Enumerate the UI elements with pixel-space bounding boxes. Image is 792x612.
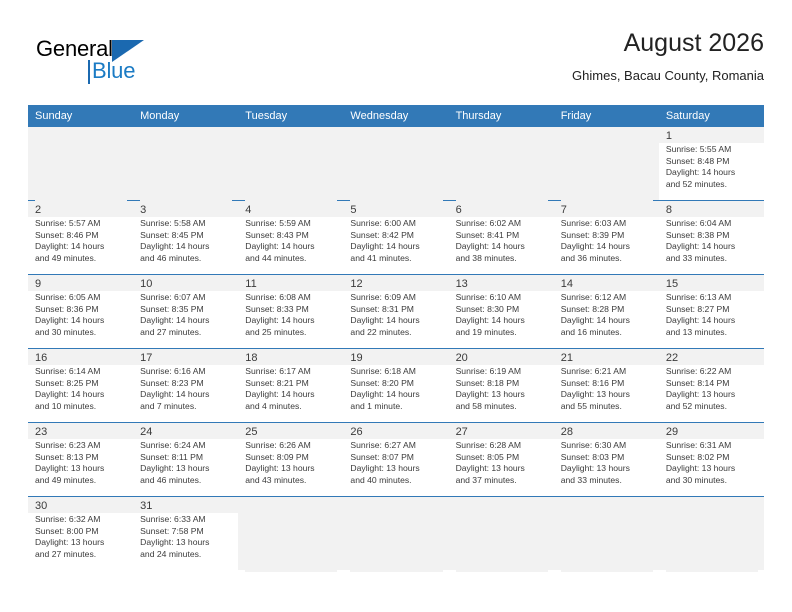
empty-cell-fill [561, 129, 653, 202]
day-number [666, 572, 758, 586]
empty-cell-fill [666, 499, 758, 572]
day-details: Sunrise: 6:10 AMSunset: 8:30 PMDaylight:… [456, 292, 548, 338]
calendar-day-cell[interactable]: 10Sunrise: 6:07 AMSunset: 8:35 PMDayligh… [133, 275, 238, 349]
day-cell-inner [554, 127, 659, 200]
day-cell-inner: 18Sunrise: 6:17 AMSunset: 8:21 PMDayligh… [238, 349, 343, 422]
sunrise-text: Sunrise: 6:30 AM [561, 440, 653, 452]
daylight-text-cont: and 52 minutes. [666, 401, 758, 413]
sunset-text: Sunset: 8:18 PM [456, 378, 548, 390]
day-details: Sunrise: 6:13 AMSunset: 8:27 PMDaylight:… [666, 292, 758, 338]
empty-cell-fill [561, 499, 653, 572]
daylight-text-cont: and 33 minutes. [666, 253, 758, 265]
daylight-text-cont: and 55 minutes. [561, 401, 653, 413]
calendar-day-cell[interactable]: 18Sunrise: 6:17 AMSunset: 8:21 PMDayligh… [238, 349, 343, 423]
daylight-text-cont: and 1 minute. [350, 401, 442, 413]
empty-cell-fill [350, 129, 442, 202]
page-header: General Blue August 2026 Ghimes, Bacau C… [28, 26, 764, 98]
daylight-text-cont: and 25 minutes. [245, 327, 337, 339]
day-cell-inner [343, 127, 448, 200]
calendar-day-cell[interactable]: 25Sunrise: 6:26 AMSunset: 8:09 PMDayligh… [238, 423, 343, 497]
sunset-text: Sunset: 8:48 PM [666, 156, 758, 168]
weekday-header-friday: Friday [554, 105, 659, 127]
day-details: Sunrise: 6:03 AMSunset: 8:39 PMDaylight:… [561, 218, 653, 264]
daylight-text: Daylight: 13 hours [456, 389, 548, 401]
day-number: 29 [666, 425, 758, 439]
sunset-text: Sunset: 7:58 PM [140, 526, 232, 538]
calendar-day-cell[interactable]: 21Sunrise: 6:21 AMSunset: 8:16 PMDayligh… [554, 349, 659, 423]
daylight-text: Daylight: 14 hours [35, 389, 127, 401]
calendar-week-row: 9Sunrise: 6:05 AMSunset: 8:36 PMDaylight… [28, 275, 764, 349]
calendar-week-row: 2Sunrise: 5:57 AMSunset: 8:46 PMDaylight… [28, 201, 764, 275]
day-details: Sunrise: 6:23 AMSunset: 8:13 PMDaylight:… [35, 440, 127, 486]
daylight-text: Daylight: 14 hours [35, 315, 127, 327]
calendar-week-row: 23Sunrise: 6:23 AMSunset: 8:13 PMDayligh… [28, 423, 764, 497]
sunset-text: Sunset: 8:27 PM [666, 304, 758, 316]
sunset-text: Sunset: 8:00 PM [35, 526, 127, 538]
day-details: Sunrise: 6:30 AMSunset: 8:03 PMDaylight:… [561, 440, 653, 486]
sunset-text: Sunset: 8:45 PM [140, 230, 232, 242]
day-number [350, 572, 442, 586]
day-details: Sunrise: 6:31 AMSunset: 8:02 PMDaylight:… [666, 440, 758, 486]
calendar-day-cell[interactable]: 8Sunrise: 6:04 AMSunset: 8:38 PMDaylight… [659, 201, 764, 275]
daylight-text-cont: and 13 minutes. [666, 327, 758, 339]
sunset-text: Sunset: 8:13 PM [35, 452, 127, 464]
day-number: 10 [140, 277, 232, 291]
daylight-text: Daylight: 14 hours [35, 241, 127, 253]
calendar-empty-cell [449, 127, 554, 201]
day-details: Sunrise: 6:04 AMSunset: 8:38 PMDaylight:… [666, 218, 758, 264]
sunset-text: Sunset: 8:20 PM [350, 378, 442, 390]
calendar-week-row: 30Sunrise: 6:32 AMSunset: 8:00 PMDayligh… [28, 497, 764, 571]
calendar-day-cell[interactable]: 22Sunrise: 6:22 AMSunset: 8:14 PMDayligh… [659, 349, 764, 423]
sunrise-sunset-calendar: Sunday Monday Tuesday Wednesday Thursday… [28, 105, 764, 570]
day-details: Sunrise: 5:57 AMSunset: 8:46 PMDaylight:… [35, 218, 127, 264]
calendar-empty-cell [238, 497, 343, 571]
day-details: Sunrise: 6:24 AMSunset: 8:11 PMDaylight:… [140, 440, 232, 486]
daylight-text-cont: and 30 minutes. [666, 475, 758, 487]
day-cell-inner [449, 127, 554, 200]
page-title: August 2026 [572, 26, 764, 60]
sunset-text: Sunset: 8:21 PM [245, 378, 337, 390]
day-details: Sunrise: 5:55 AMSunset: 8:48 PMDaylight:… [666, 144, 758, 190]
calendar-day-cell[interactable]: 3Sunrise: 5:58 AMSunset: 8:45 PMDaylight… [133, 201, 238, 275]
calendar-empty-cell [133, 127, 238, 201]
daylight-text: Daylight: 13 hours [35, 537, 127, 549]
calendar-day-cell[interactable]: 24Sunrise: 6:24 AMSunset: 8:11 PMDayligh… [133, 423, 238, 497]
sunrise-text: Sunrise: 6:14 AM [35, 366, 127, 378]
calendar-day-cell[interactable]: 28Sunrise: 6:30 AMSunset: 8:03 PMDayligh… [554, 423, 659, 497]
calendar-day-cell[interactable]: 6Sunrise: 6:02 AMSunset: 8:41 PMDaylight… [449, 201, 554, 275]
day-details: Sunrise: 6:18 AMSunset: 8:20 PMDaylight:… [350, 366, 442, 412]
daylight-text-cont: and 44 minutes. [245, 253, 337, 265]
day-number: 9 [35, 277, 127, 291]
daylight-text: Daylight: 13 hours [561, 389, 653, 401]
calendar-empty-cell [659, 497, 764, 571]
day-cell-inner: 15Sunrise: 6:13 AMSunset: 8:27 PMDayligh… [659, 275, 764, 348]
calendar-day-cell[interactable]: 12Sunrise: 6:09 AMSunset: 8:31 PMDayligh… [343, 275, 448, 349]
sunset-text: Sunset: 8:14 PM [666, 378, 758, 390]
empty-cell-fill [245, 129, 337, 202]
title-block: August 2026 Ghimes, Bacau County, Romani… [572, 26, 764, 86]
daylight-text: Daylight: 13 hours [561, 463, 653, 475]
day-number: 3 [140, 203, 232, 217]
daylight-text-cont: and 22 minutes. [350, 327, 442, 339]
day-number: 7 [561, 203, 653, 217]
day-details: Sunrise: 6:28 AMSunset: 8:05 PMDaylight:… [456, 440, 548, 486]
sunset-text: Sunset: 8:36 PM [35, 304, 127, 316]
sunset-text: Sunset: 8:46 PM [35, 230, 127, 242]
sunset-text: Sunset: 8:16 PM [561, 378, 653, 390]
calendar-day-cell[interactable]: 5Sunrise: 6:00 AMSunset: 8:42 PMDaylight… [343, 201, 448, 275]
day-details: Sunrise: 6:17 AMSunset: 8:21 PMDaylight:… [245, 366, 337, 412]
day-cell-inner: 5Sunrise: 6:00 AMSunset: 8:42 PMDaylight… [343, 201, 448, 274]
day-number: 12 [350, 277, 442, 291]
day-details: Sunrise: 6:21 AMSunset: 8:16 PMDaylight:… [561, 366, 653, 412]
day-number: 26 [350, 425, 442, 439]
calendar-day-cell[interactable]: 1Sunrise: 5:55 AMSunset: 8:48 PMDaylight… [659, 127, 764, 201]
sunrise-text: Sunrise: 6:26 AM [245, 440, 337, 452]
calendar-day-cell[interactable]: 7Sunrise: 6:03 AMSunset: 8:39 PMDaylight… [554, 201, 659, 275]
daylight-text: Daylight: 13 hours [140, 537, 232, 549]
sunset-text: Sunset: 8:09 PM [245, 452, 337, 464]
sunrise-text: Sunrise: 6:03 AM [561, 218, 653, 230]
weekday-header-wednesday: Wednesday [343, 105, 448, 127]
day-details: Sunrise: 6:12 AMSunset: 8:28 PMDaylight:… [561, 292, 653, 338]
daylight-text: Daylight: 13 hours [666, 389, 758, 401]
calendar-day-cell[interactable]: 4Sunrise: 5:59 AMSunset: 8:43 PMDaylight… [238, 201, 343, 275]
day-number: 15 [666, 277, 758, 291]
day-number [561, 572, 653, 586]
sunset-text: Sunset: 8:43 PM [245, 230, 337, 242]
day-cell-inner: 4Sunrise: 5:59 AMSunset: 8:43 PMDaylight… [238, 201, 343, 274]
sunset-text: Sunset: 8:41 PM [456, 230, 548, 242]
daylight-text-cont: and 10 minutes. [35, 401, 127, 413]
calendar-day-cell[interactable]: 30Sunrise: 6:32 AMSunset: 8:00 PMDayligh… [28, 497, 133, 571]
day-cell-inner: 28Sunrise: 6:30 AMSunset: 8:03 PMDayligh… [554, 423, 659, 496]
daylight-text-cont: and 49 minutes. [35, 253, 127, 265]
empty-cell-fill [35, 129, 127, 202]
calendar-empty-cell [343, 127, 448, 201]
sunset-text: Sunset: 8:07 PM [350, 452, 442, 464]
daylight-text: Daylight: 13 hours [245, 463, 337, 475]
day-number: 27 [456, 425, 548, 439]
day-cell-inner: 21Sunrise: 6:21 AMSunset: 8:16 PMDayligh… [554, 349, 659, 422]
sunset-text: Sunset: 8:05 PM [456, 452, 548, 464]
sunrise-text: Sunrise: 6:07 AM [140, 292, 232, 304]
day-details: Sunrise: 6:07 AMSunset: 8:35 PMDaylight:… [140, 292, 232, 338]
day-number: 14 [561, 277, 653, 291]
daylight-text-cont: and 37 minutes. [456, 475, 548, 487]
calendar-empty-cell [28, 127, 133, 201]
daylight-text-cont: and 27 minutes. [140, 327, 232, 339]
daylight-text: Daylight: 13 hours [456, 463, 548, 475]
daylight-text-cont: and 41 minutes. [350, 253, 442, 265]
day-cell-inner: 17Sunrise: 6:16 AMSunset: 8:23 PMDayligh… [133, 349, 238, 422]
daylight-text-cont: and 24 minutes. [140, 549, 232, 561]
day-details: Sunrise: 6:00 AMSunset: 8:42 PMDaylight:… [350, 218, 442, 264]
day-number: 22 [666, 351, 758, 365]
sunrise-text: Sunrise: 6:00 AM [350, 218, 442, 230]
daylight-text: Daylight: 14 hours [245, 315, 337, 327]
calendar-empty-cell [343, 497, 448, 571]
day-details: Sunrise: 5:58 AMSunset: 8:45 PMDaylight:… [140, 218, 232, 264]
day-cell-inner: 8Sunrise: 6:04 AMSunset: 8:38 PMDaylight… [659, 201, 764, 274]
day-number: 16 [35, 351, 127, 365]
day-cell-inner: 7Sunrise: 6:03 AMSunset: 8:39 PMDaylight… [554, 201, 659, 274]
sunrise-text: Sunrise: 6:31 AM [666, 440, 758, 452]
day-number: 31 [140, 499, 232, 513]
day-cell-inner [133, 127, 238, 200]
day-details: Sunrise: 6:22 AMSunset: 8:14 PMDaylight:… [666, 366, 758, 412]
sunrise-text: Sunrise: 6:16 AM [140, 366, 232, 378]
day-number: 4 [245, 203, 337, 217]
sunrise-text: Sunrise: 6:22 AM [666, 366, 758, 378]
day-cell-inner [554, 497, 659, 570]
sunrise-text: Sunrise: 6:24 AM [140, 440, 232, 452]
day-cell-inner: 12Sunrise: 6:09 AMSunset: 8:31 PMDayligh… [343, 275, 448, 348]
day-cell-inner: 20Sunrise: 6:19 AMSunset: 8:18 PMDayligh… [449, 349, 554, 422]
daylight-text: Daylight: 14 hours [245, 389, 337, 401]
sunrise-text: Sunrise: 6:10 AM [456, 292, 548, 304]
sunset-text: Sunset: 8:42 PM [350, 230, 442, 242]
sunset-text: Sunset: 8:25 PM [35, 378, 127, 390]
sunrise-text: Sunrise: 6:23 AM [35, 440, 127, 452]
sunrise-text: Sunrise: 6:04 AM [666, 218, 758, 230]
daylight-text-cont: and 33 minutes. [561, 475, 653, 487]
day-details: Sunrise: 6:16 AMSunset: 8:23 PMDaylight:… [140, 366, 232, 412]
sunrise-text: Sunrise: 6:28 AM [456, 440, 548, 452]
sunset-text: Sunset: 8:28 PM [561, 304, 653, 316]
day-cell-inner: 26Sunrise: 6:27 AMSunset: 8:07 PMDayligh… [343, 423, 448, 496]
calendar-page: General Blue August 2026 Ghimes, Bacau C… [0, 0, 792, 612]
daylight-text: Daylight: 14 hours [140, 389, 232, 401]
day-number: 18 [245, 351, 337, 365]
day-cell-inner: 3Sunrise: 5:58 AMSunset: 8:45 PMDaylight… [133, 201, 238, 274]
daylight-text-cont: and 38 minutes. [456, 253, 548, 265]
weekday-header-thursday: Thursday [449, 105, 554, 127]
calendar-day-cell[interactable]: 17Sunrise: 6:16 AMSunset: 8:23 PMDayligh… [133, 349, 238, 423]
calendar-day-cell[interactable]: 15Sunrise: 6:13 AMSunset: 8:27 PMDayligh… [659, 275, 764, 349]
daylight-text: Daylight: 14 hours [350, 389, 442, 401]
sunrise-text: Sunrise: 6:33 AM [140, 514, 232, 526]
calendar-empty-cell [554, 127, 659, 201]
sunset-text: Sunset: 8:23 PM [140, 378, 232, 390]
sunrise-text: Sunrise: 6:18 AM [350, 366, 442, 378]
daylight-text: Daylight: 14 hours [140, 315, 232, 327]
calendar-day-cell[interactable]: 2Sunrise: 5:57 AMSunset: 8:46 PMDaylight… [28, 201, 133, 275]
day-cell-inner: 25Sunrise: 6:26 AMSunset: 8:09 PMDayligh… [238, 423, 343, 496]
sunset-text: Sunset: 8:03 PM [561, 452, 653, 464]
daylight-text: Daylight: 14 hours [561, 315, 653, 327]
daylight-text-cont: and 58 minutes. [456, 401, 548, 413]
day-details: Sunrise: 6:05 AMSunset: 8:36 PMDaylight:… [35, 292, 127, 338]
general-blue-logo[interactable]: General Blue [36, 36, 236, 92]
sunrise-text: Sunrise: 6:08 AM [245, 292, 337, 304]
calendar-empty-cell [554, 497, 659, 571]
empty-cell-fill [140, 129, 232, 202]
calendar-day-cell[interactable]: 29Sunrise: 6:31 AMSunset: 8:02 PMDayligh… [659, 423, 764, 497]
day-cell-inner [238, 127, 343, 200]
day-cell-inner: 30Sunrise: 6:32 AMSunset: 8:00 PMDayligh… [28, 497, 133, 570]
day-details: Sunrise: 6:09 AMSunset: 8:31 PMDaylight:… [350, 292, 442, 338]
empty-cell-fill [456, 499, 548, 572]
day-cell-inner: 19Sunrise: 6:18 AMSunset: 8:20 PMDayligh… [343, 349, 448, 422]
day-cell-inner [343, 497, 448, 570]
daylight-text-cont: and 27 minutes. [35, 549, 127, 561]
day-cell-inner [449, 497, 554, 570]
daylight-text-cont: and 30 minutes. [35, 327, 127, 339]
empty-cell-fill [456, 129, 548, 202]
sunset-text: Sunset: 8:38 PM [666, 230, 758, 242]
day-details: Sunrise: 5:59 AMSunset: 8:43 PMDaylight:… [245, 218, 337, 264]
daylight-text-cont: and 7 minutes. [140, 401, 232, 413]
day-number: 21 [561, 351, 653, 365]
day-cell-inner: 9Sunrise: 6:05 AMSunset: 8:36 PMDaylight… [28, 275, 133, 348]
calendar-empty-cell [238, 127, 343, 201]
day-cell-inner [28, 127, 133, 200]
calendar-day-cell[interactable]: 27Sunrise: 6:28 AMSunset: 8:05 PMDayligh… [449, 423, 554, 497]
day-number [456, 572, 548, 586]
day-number: 8 [666, 203, 758, 217]
calendar-day-cell[interactable]: 26Sunrise: 6:27 AMSunset: 8:07 PMDayligh… [343, 423, 448, 497]
sunset-text: Sunset: 8:31 PM [350, 304, 442, 316]
day-cell-inner [659, 497, 764, 570]
daylight-text-cont: and 16 minutes. [561, 327, 653, 339]
day-number: 24 [140, 425, 232, 439]
day-number: 19 [350, 351, 442, 365]
day-cell-inner: 16Sunrise: 6:14 AMSunset: 8:25 PMDayligh… [28, 349, 133, 422]
calendar-body: 1Sunrise: 5:55 AMSunset: 8:48 PMDaylight… [28, 127, 764, 570]
calendar-day-cell[interactable]: 20Sunrise: 6:19 AMSunset: 8:18 PMDayligh… [449, 349, 554, 423]
sunrise-text: Sunrise: 5:57 AM [35, 218, 127, 230]
daylight-text: Daylight: 14 hours [456, 315, 548, 327]
calendar-empty-cell [449, 497, 554, 571]
sunrise-text: Sunrise: 6:13 AM [666, 292, 758, 304]
day-cell-inner: 10Sunrise: 6:07 AMSunset: 8:35 PMDayligh… [133, 275, 238, 348]
daylight-text: Daylight: 14 hours [350, 315, 442, 327]
empty-cell-fill [245, 499, 337, 572]
weekday-header-saturday: Saturday [659, 105, 764, 127]
day-number [245, 572, 337, 586]
daylight-text: Daylight: 14 hours [245, 241, 337, 253]
daylight-text: Daylight: 13 hours [350, 463, 442, 475]
daylight-text-cont: and 46 minutes. [140, 475, 232, 487]
day-number: 5 [350, 203, 442, 217]
daylight-text: Daylight: 14 hours [140, 241, 232, 253]
sunrise-text: Sunrise: 6:32 AM [35, 514, 127, 526]
day-number: 2 [35, 203, 127, 217]
day-details: Sunrise: 6:32 AMSunset: 8:00 PMDaylight:… [35, 514, 127, 560]
day-number: 25 [245, 425, 337, 439]
day-number: 11 [245, 277, 337, 291]
sunrise-text: Sunrise: 6:21 AM [561, 366, 653, 378]
day-cell-inner: 1Sunrise: 5:55 AMSunset: 8:48 PMDaylight… [659, 127, 764, 200]
sunset-text: Sunset: 8:30 PM [456, 304, 548, 316]
day-cell-inner: 23Sunrise: 6:23 AMSunset: 8:13 PMDayligh… [28, 423, 133, 496]
sunrise-text: Sunrise: 6:05 AM [35, 292, 127, 304]
page-subtitle: Ghimes, Bacau County, Romania [572, 66, 764, 86]
day-number: 28 [561, 425, 653, 439]
day-details: Sunrise: 6:19 AMSunset: 8:18 PMDaylight:… [456, 366, 548, 412]
day-details: Sunrise: 6:14 AMSunset: 8:25 PMDaylight:… [35, 366, 127, 412]
day-cell-inner: 13Sunrise: 6:10 AMSunset: 8:30 PMDayligh… [449, 275, 554, 348]
sunset-text: Sunset: 8:11 PM [140, 452, 232, 464]
daylight-text: Daylight: 14 hours [666, 241, 758, 253]
day-cell-inner: 29Sunrise: 6:31 AMSunset: 8:02 PMDayligh… [659, 423, 764, 496]
sunrise-text: Sunrise: 6:12 AM [561, 292, 653, 304]
daylight-text-cont: and 49 minutes. [35, 475, 127, 487]
weekday-header-row: Sunday Monday Tuesday Wednesday Thursday… [28, 105, 764, 127]
sunset-text: Sunset: 8:35 PM [140, 304, 232, 316]
day-number: 1 [666, 129, 758, 143]
daylight-text-cont: and 52 minutes. [666, 179, 758, 191]
sunrise-text: Sunrise: 6:17 AM [245, 366, 337, 378]
daylight-text: Daylight: 13 hours [666, 463, 758, 475]
day-details: Sunrise: 6:27 AMSunset: 8:07 PMDaylight:… [350, 440, 442, 486]
daylight-text: Daylight: 14 hours [561, 241, 653, 253]
day-cell-inner: 11Sunrise: 6:08 AMSunset: 8:33 PMDayligh… [238, 275, 343, 348]
calendar-day-cell[interactable]: 9Sunrise: 6:05 AMSunset: 8:36 PMDaylight… [28, 275, 133, 349]
empty-cell-fill [350, 499, 442, 572]
logo-bar-icon [88, 60, 90, 84]
logo-text-blue: Blue [92, 58, 135, 84]
day-cell-inner: 22Sunrise: 6:22 AMSunset: 8:14 PMDayligh… [659, 349, 764, 422]
day-cell-inner [238, 497, 343, 570]
daylight-text: Daylight: 14 hours [350, 241, 442, 253]
day-cell-inner: 6Sunrise: 6:02 AMSunset: 8:41 PMDaylight… [449, 201, 554, 274]
calendar-day-cell[interactable]: 13Sunrise: 6:10 AMSunset: 8:30 PMDayligh… [449, 275, 554, 349]
calendar-day-cell[interactable]: 19Sunrise: 6:18 AMSunset: 8:20 PMDayligh… [343, 349, 448, 423]
calendar-day-cell[interactable]: 16Sunrise: 6:14 AMSunset: 8:25 PMDayligh… [28, 349, 133, 423]
daylight-text: Daylight: 14 hours [456, 241, 548, 253]
daylight-text: Daylight: 13 hours [35, 463, 127, 475]
calendar-day-cell[interactable]: 31Sunrise: 6:33 AMSunset: 7:58 PMDayligh… [133, 497, 238, 571]
day-cell-inner: 31Sunrise: 6:33 AMSunset: 7:58 PMDayligh… [133, 497, 238, 570]
daylight-text: Daylight: 14 hours [666, 167, 758, 179]
daylight-text-cont: and 4 minutes. [245, 401, 337, 413]
day-number: 6 [456, 203, 548, 217]
weekday-header-tuesday: Tuesday [238, 105, 343, 127]
day-cell-inner: 24Sunrise: 6:24 AMSunset: 8:11 PMDayligh… [133, 423, 238, 496]
calendar-day-cell[interactable]: 11Sunrise: 6:08 AMSunset: 8:33 PMDayligh… [238, 275, 343, 349]
day-cell-inner: 27Sunrise: 6:28 AMSunset: 8:05 PMDayligh… [449, 423, 554, 496]
sunset-text: Sunset: 8:39 PM [561, 230, 653, 242]
weekday-header-monday: Monday [133, 105, 238, 127]
sunrise-text: Sunrise: 6:19 AM [456, 366, 548, 378]
daylight-text-cont: and 36 minutes. [561, 253, 653, 265]
calendar-week-row: 1Sunrise: 5:55 AMSunset: 8:48 PMDaylight… [28, 127, 764, 201]
daylight-text-cont: and 19 minutes. [456, 327, 548, 339]
day-number: 13 [456, 277, 548, 291]
sunrise-text: Sunrise: 5:55 AM [666, 144, 758, 156]
day-cell-inner: 2Sunrise: 5:57 AMSunset: 8:46 PMDaylight… [28, 201, 133, 274]
calendar-day-cell[interactable]: 14Sunrise: 6:12 AMSunset: 8:28 PMDayligh… [554, 275, 659, 349]
daylight-text-cont: and 43 minutes. [245, 475, 337, 487]
sunrise-text: Sunrise: 5:58 AM [140, 218, 232, 230]
day-cell-inner: 14Sunrise: 6:12 AMSunset: 8:28 PMDayligh… [554, 275, 659, 348]
sunrise-text: Sunrise: 6:27 AM [350, 440, 442, 452]
weekday-header-sunday: Sunday [28, 105, 133, 127]
calendar-week-row: 16Sunrise: 6:14 AMSunset: 8:25 PMDayligh… [28, 349, 764, 423]
day-number: 17 [140, 351, 232, 365]
day-details: Sunrise: 6:08 AMSunset: 8:33 PMDaylight:… [245, 292, 337, 338]
calendar-day-cell[interactable]: 23Sunrise: 6:23 AMSunset: 8:13 PMDayligh… [28, 423, 133, 497]
day-number: 23 [35, 425, 127, 439]
day-details: Sunrise: 6:33 AMSunset: 7:58 PMDaylight:… [140, 514, 232, 560]
day-number: 20 [456, 351, 548, 365]
sunrise-text: Sunrise: 6:09 AM [350, 292, 442, 304]
sunrise-text: Sunrise: 5:59 AM [245, 218, 337, 230]
